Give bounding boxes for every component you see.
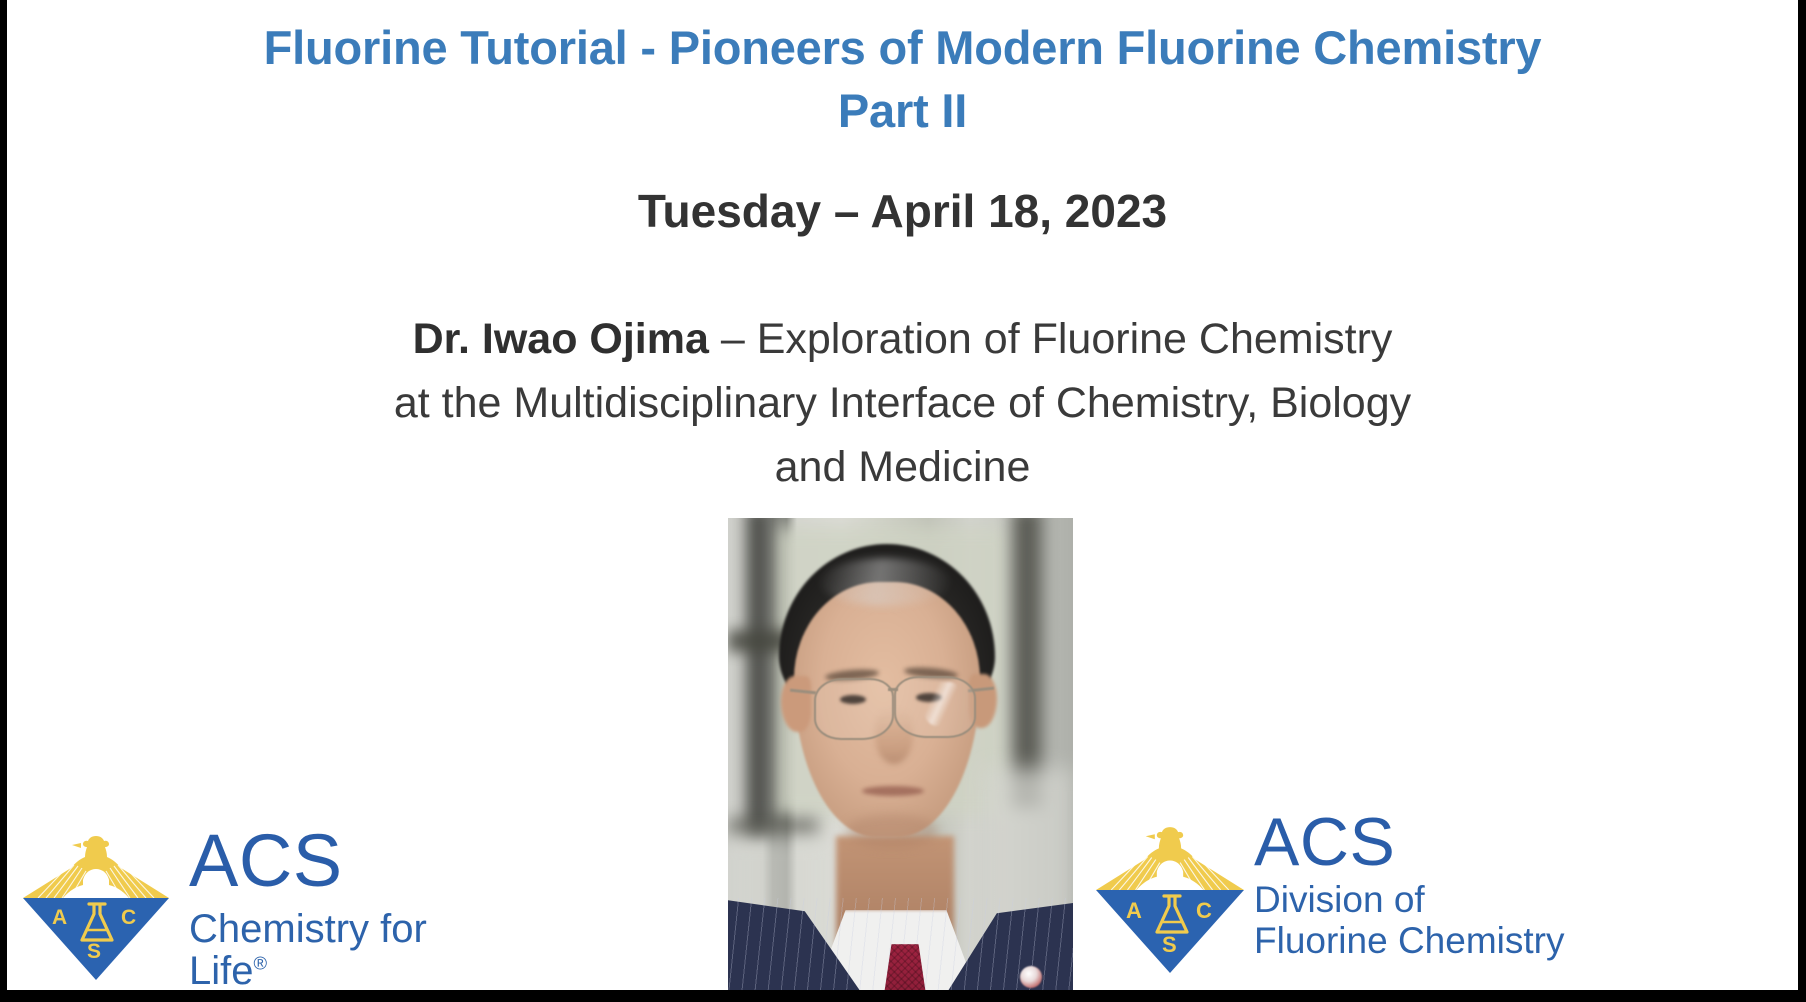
portrait-chin <box>846 814 938 848</box>
acs-logo: A C S ACS Chemistry for Life® <box>21 818 491 983</box>
acs-division-line-2: Fluorine Chemistry <box>1254 921 1564 960</box>
acs-registered-mark: ® <box>254 953 268 974</box>
talk-line-1: Dr. Iwao Ojima – Exploration of Fluorine… <box>7 307 1798 371</box>
acs-division-line-1: Division of <box>1254 880 1564 919</box>
acs-division-wordmark: ACS <box>1254 808 1564 876</box>
acs-tagline: Chemistry for Life® <box>189 908 491 990</box>
portrait-glasses-bridge <box>888 688 898 691</box>
portrait-hair-highlight <box>820 558 950 606</box>
title-prefix: Fluorine Tutorial - <box>264 21 669 74</box>
title-main: Pioneers of Modern Fluorine Chemistry <box>669 21 1542 74</box>
acs-diamond-letter-a: A <box>52 906 67 930</box>
slide-root: Fluorine Tutorial - Pioneers of Modern F… <box>0 0 1806 1002</box>
event-date: Tuesday – April 18, 2023 <box>7 184 1798 238</box>
talk-description: Dr. Iwao Ojima – Exploration of Fluorine… <box>7 307 1798 499</box>
talk-line-1-rest: – Exploration of Fluorine Chemistry <box>709 315 1393 363</box>
acs-division-diamond-letter-c: C <box>1196 898 1212 924</box>
acs-diamond-letters: A C S <box>21 822 171 982</box>
border-right <box>1798 0 1806 1002</box>
acs-division-diamond-letters: A C S <box>1094 810 1246 978</box>
slide-canvas: Fluorine Tutorial - Pioneers of Modern F… <box>7 0 1798 990</box>
page-title: Fluorine Tutorial - Pioneers of Modern F… <box>7 16 1798 142</box>
portrait-bg-frame-left <box>746 518 772 838</box>
acs-division-diamond-letter-a: A <box>1126 898 1142 924</box>
title-line-1: Fluorine Tutorial - Pioneers of Modern F… <box>7 16 1798 79</box>
portrait-glasses-lens-left <box>814 678 894 740</box>
talk-line-3: and Medicine <box>7 435 1798 499</box>
acs-division-wordmark-block: ACS Division of Fluorine Chemistry <box>1254 808 1564 960</box>
border-bottom <box>0 990 1806 1002</box>
acs-tagline-text: Chemistry for Life <box>189 907 427 990</box>
portrait-ear-left <box>781 676 811 732</box>
speaker-name: Dr. Iwao Ojima <box>413 315 709 363</box>
acs-diamond-letter-c: C <box>121 906 136 930</box>
portrait-mouth <box>862 786 924 796</box>
talk-line-2: at the Multidisciplinary Interface of Ch… <box>7 371 1798 435</box>
acs-flask-icon <box>75 900 119 946</box>
title-line-2: Part II <box>7 79 1798 142</box>
speaker-portrait-photo <box>728 518 1073 990</box>
acs-division-flask-icon <box>1150 892 1194 938</box>
border-left <box>0 0 7 1002</box>
portrait-bg-frame-bottom <box>728 818 818 836</box>
portrait-bg-frame-right <box>1012 518 1042 808</box>
portrait-glasses-glint <box>924 682 962 726</box>
acs-wordmark: ACS <box>189 824 491 898</box>
portrait-lapel-pin <box>1020 966 1042 988</box>
acs-division-fluorine-chemistry-logo: A C S ACS Division of Fluorine Chemistry <box>1094 808 1614 990</box>
acs-wordmark-block: ACS Chemistry for Life® <box>189 824 491 990</box>
